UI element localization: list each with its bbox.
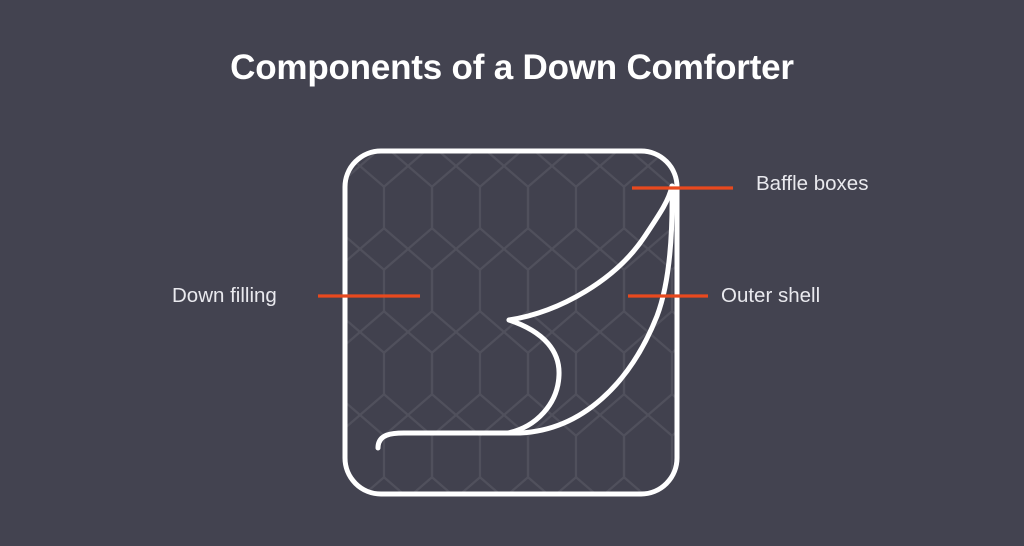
down-comforter-illustration xyxy=(0,0,1024,546)
callout-label-down-filling: Down filling xyxy=(172,286,277,307)
callout-label-baffle-boxes: Baffle boxes xyxy=(756,174,868,195)
diagram-canvas: Components of a Down Comforter xyxy=(0,0,1024,546)
callout-label-outer-shell: Outer shell xyxy=(721,286,820,307)
